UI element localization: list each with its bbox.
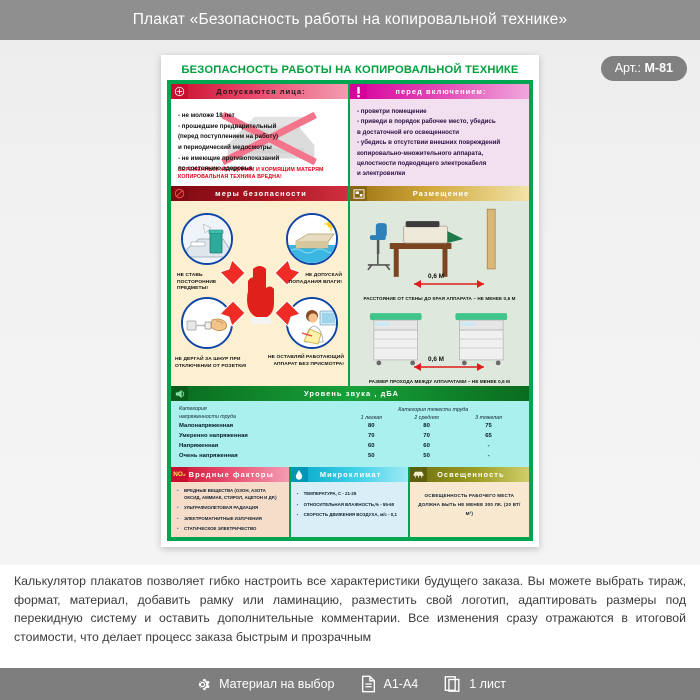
sound-lead-header: Категория напряженности труда	[179, 406, 346, 421]
document-icon	[361, 675, 376, 693]
footer-label-sheets: 1 лист	[469, 677, 506, 691]
bullet-icon: •	[177, 505, 181, 511]
list-item: целостности подводящего электрокабеля	[357, 159, 522, 169]
bullet-icon: •	[177, 526, 181, 532]
sound-level-table: Категория напряженности труда Категория …	[179, 406, 521, 461]
cell-value: 80	[346, 421, 397, 431]
sound-table-body: Категория напряженности труда Категория …	[171, 401, 529, 467]
layout-icon	[350, 186, 367, 201]
footer-item-material[interactable]: Материал на выбор	[194, 676, 334, 693]
sound-icon	[171, 386, 188, 401]
article-prefix: Арт.:	[615, 61, 641, 75]
product-description: Калькулятор плакатов позволяет гибко нас…	[14, 572, 686, 647]
article-code: М-81	[645, 61, 673, 75]
list-item: •УЛЬТРАФИОЛЕТОВАЯ РАДИАЦИЯ	[177, 505, 284, 511]
panel-header-harmful: NO₂ Вредные факторы	[171, 467, 289, 482]
list-item: ▪ТЕМПЕРАТУРА, С - 21-25	[297, 491, 403, 497]
list-item: - приведи в порядок рабочее место, убеди…	[357, 117, 522, 127]
panel-before-switching-on: перед включением: - проветри помещение -…	[350, 84, 529, 186]
table-row: Малонапряженная 80 80 75	[179, 421, 521, 431]
sound-column-header: 2 средняя	[397, 414, 456, 421]
poster-row-middle: меры безопасности	[171, 186, 529, 386]
cell-value: 50	[346, 451, 397, 461]
safety-illustrations: НЕ СТАВЬ ПОСТОРОННИЕ ПРЕДМЕТЫ! НЕ ДОПУСК…	[171, 201, 348, 386]
dimension-arrow-2	[412, 362, 486, 372]
article-badge: Арт.: М-81	[601, 56, 687, 81]
list-item: - прошедшие предварительный	[178, 122, 342, 133]
list-item: •СТАТИЧЕСКОЕ ЭЛЕКТРИЧЕСТВО	[177, 526, 284, 532]
panel-title-microclimate: Микроклимат	[308, 470, 408, 479]
panel-header-sound: Уровень звука , дБА	[171, 386, 529, 401]
panel-placement: Размещение	[350, 186, 529, 386]
cell-value: 50	[397, 451, 456, 461]
list-item: ▪ОТНОСИТЕЛЬНАЯ ВЛАЖНОСТЬ,% - 55-60	[297, 502, 403, 508]
list-item: •ЭЛЕКТРОМАГНИТНЫЕ ИЗЛУЧЕНИЯ	[177, 516, 284, 522]
list-item: - убедись в отсутствии внешних поврежден…	[357, 138, 522, 148]
page-title: Плакат «Безопасность работы на копировал…	[133, 11, 568, 29]
plus-circle-icon	[171, 84, 188, 99]
list-item: - не моложе 18 лет	[178, 111, 342, 122]
gear-icon	[194, 676, 211, 693]
safety-caption: НЕ ДОПУСКАЙ ПОПАДАНИЯ ВЛАГИ!	[280, 273, 342, 286]
no2-icon: NO₂	[171, 467, 188, 482]
panel-header-illumination: Освещенность	[410, 467, 529, 482]
list-item: - не имеющие противопоказаний	[178, 154, 342, 165]
poster-title: БЕЗОПАСНОСТЬ РАБОТЫ НА КОПИРОВАЛЬНОЙ ТЕХ…	[167, 60, 533, 80]
illumination-text: ОСВЕЩЕННОСТЬ РАБОЧЕГО МЕСТА ДОЛЖНА БЫТЬ …	[410, 482, 529, 518]
panel-title-harmful: Вредные факторы	[188, 470, 289, 479]
list-item: в достаточной его освещенности	[357, 128, 522, 138]
admitted-list: - не моложе 18 лет - прошедшие предварит…	[178, 111, 342, 175]
panel-title-placement: Размещение	[367, 189, 529, 198]
panel-microclimate: Микроклимат ▪ТЕМПЕРАТУРА, С - 21-25 ▪ОТН…	[291, 467, 410, 537]
poster-row-top: Допускаются лица: - не моложе 18 лет - п…	[171, 84, 529, 186]
placement-dimension-1: 0,6 М	[428, 273, 444, 280]
harmful-list: •ВРЕДНЫЕ ВЕЩЕСТВА (ОЗОН, АЗОТА ОКСИД, АМ…	[171, 482, 289, 532]
poster-frame: Допускаются лица: - не моложе 18 лет - п…	[167, 80, 533, 541]
panel-illumination: Освещенность ОСВЕЩЕННОСТЬ РАБОЧЕГО МЕСТА…	[410, 467, 529, 537]
placement-note-1: РАССТОЯНИЕ ОТ СТЕНЫ ДО КРАЯ АППАРАТА – Н…	[354, 296, 525, 301]
sound-column-header: 3 тяжелая	[456, 414, 521, 421]
list-item: ▪СКОРОСТЬ ДВИЖЕНИЯ ВОЗДУХА, м/с - 0,1	[297, 512, 403, 518]
safety-caption: НЕ ОСТАВЛЯЙ РАБОТАЮЩИЙ АППАРАТ БЕЗ ПРИСМ…	[266, 355, 344, 368]
bullet-icon: •	[177, 488, 181, 501]
cell-value: 70	[346, 431, 397, 441]
safety-caption: НЕ ДЕРГАЙ ЗА ШНУР ПРИ ОТКЛЮЧЕНИИ ОТ РОЗЕ…	[175, 357, 249, 370]
cell-value: 80	[397, 421, 456, 431]
exclamation-icon	[350, 84, 367, 99]
panel-admitted-persons: Допускаются лица: - не моложе 18 лет - п…	[171, 84, 350, 186]
sound-group-header: Категория тяжести труда	[346, 406, 521, 414]
row-label: Напряженная	[179, 441, 346, 451]
row-label: Малонапряженная	[179, 421, 346, 431]
sound-column-header: 1 легкая	[346, 414, 397, 421]
bullet-icon: ▪	[297, 512, 301, 518]
panel-header-before: перед включением:	[350, 84, 529, 99]
footer-bar: Материал на выбор A1-A4 1 лист	[0, 668, 700, 700]
droplet-icon	[291, 467, 308, 482]
lamp-icon	[410, 467, 427, 482]
panel-header-safety: меры безопасности	[171, 186, 348, 201]
panel-title-safety: меры безопасности	[188, 189, 348, 198]
cell-value: 60	[397, 441, 456, 451]
panel-title-sound: Уровень звука , дБА	[188, 389, 529, 398]
cell-value: -	[456, 441, 521, 451]
cell-value: 65	[456, 431, 521, 441]
page-root: Плакат «Безопасность работы на копировал…	[0, 0, 700, 700]
bullet-icon: ▪	[297, 502, 301, 508]
list-item: и периодический медосмотры	[178, 143, 342, 154]
cell-value: -	[456, 451, 521, 461]
panel-body-admitted: - не моложе 18 лет - прошедшие предварит…	[171, 99, 348, 186]
cell-value: 60	[346, 441, 397, 451]
microclimate-list: ▪ТЕМПЕРАТУРА, С - 21-25 ▪ОТНОСИТЕЛЬНАЯ В…	[291, 482, 408, 518]
panel-header-admitted: Допускаются лица:	[171, 84, 348, 99]
panel-header-placement: Размещение	[350, 186, 529, 201]
footer-label-format: A1-A4	[384, 677, 419, 691]
footer-item-sheets[interactable]: 1 лист	[444, 675, 506, 693]
panel-title-illumination: Освещенность	[427, 470, 529, 479]
panel-safety-measures: меры безопасности	[171, 186, 350, 386]
panel-title-admitted: Допускаются лица:	[188, 87, 348, 96]
dimension-arrow-1	[412, 279, 486, 289]
list-item: - проветри помещение	[357, 107, 522, 117]
placement-illustrations: 0,6 М РАССТОЯНИЕ ОТ СТЕНЫ ДО КРАЯ АППАРА…	[350, 201, 529, 386]
page-header-bar: Плакат «Безопасность работы на копировал…	[0, 0, 700, 40]
row-label: Умеренно напряженная	[179, 431, 346, 441]
row-label: Очень напряженная	[179, 451, 346, 461]
footer-item-format[interactable]: A1-A4	[361, 675, 419, 693]
table-row: Напряженная 60 60 -	[179, 441, 521, 451]
table-row: Умеренно напряженная 70 70 65	[179, 431, 521, 441]
panel-title-before: перед включением:	[367, 87, 529, 96]
safety-caption: НЕ СТАВЬ ПОСТОРОННИЕ ПРЕДМЕТЫ!	[177, 273, 239, 293]
list-item: копировально-множительного аппарата,	[357, 149, 522, 159]
panel-header-microclimate: Микроклимат	[291, 467, 408, 482]
cell-value: 70	[397, 431, 456, 441]
prohibition-icon	[171, 186, 188, 201]
poster-image[interactable]: БЕЗОПАСНОСТЬ РАБОТЫ НА КОПИРОВАЛЬНОЙ ТЕХ…	[161, 55, 539, 547]
placement-note-2: РАЗМЕР ПРОХОДА МЕЖДУ АППАРАТАМИ – НЕ МЕН…	[354, 379, 525, 384]
list-item: (перед поступлением на работу)	[178, 132, 342, 143]
table-row: Очень напряженная 50 50 -	[179, 451, 521, 461]
layers-icon	[444, 675, 461, 693]
footer-label-material: Материал на выбор	[219, 677, 334, 691]
bullet-icon: ▪	[297, 491, 301, 497]
list-item: по состоянию здоровья	[178, 164, 342, 175]
list-item: и электровилки	[357, 169, 522, 179]
warning-hand-arrows-icon	[215, 251, 305, 337]
poster-row-bottom: NO₂ Вредные факторы •ВРЕДНЫЕ ВЕЩЕСТВА (О…	[171, 467, 529, 537]
bullet-icon: •	[177, 516, 181, 522]
before-list: - проветри помещение - приведи в порядок…	[350, 99, 529, 180]
list-item: •ВРЕДНЫЕ ВЕЩЕСТВА (ОЗОН, АЗОТА ОКСИД, АМ…	[177, 488, 284, 501]
cell-value: 75	[456, 421, 521, 431]
placement-dimension-2: 0,6 М	[428, 356, 444, 363]
panel-harmful-factors: NO₂ Вредные факторы •ВРЕДНЫЕ ВЕЩЕСТВА (О…	[171, 467, 291, 537]
panel-sound-level: Уровень звука , дБА Категория напряженно…	[171, 386, 529, 467]
